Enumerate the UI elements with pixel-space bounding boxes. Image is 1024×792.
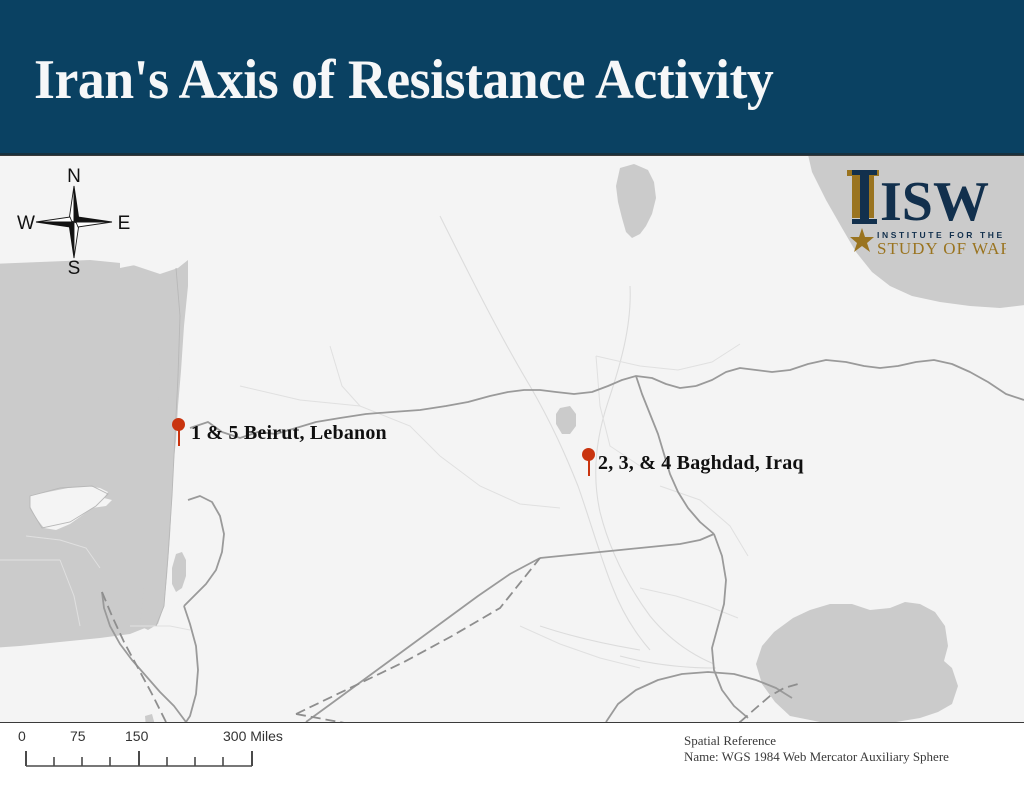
map-page: Iran's Axis of Resistance Activity xyxy=(0,0,1024,792)
spatial-reference: Spatial Reference Name: WGS 1984 Web Mer… xyxy=(684,733,1014,765)
logo-star-icon xyxy=(850,228,874,252)
compass-west-bottom xyxy=(36,222,72,227)
isw-logo: ISW INSTITUTE FOR THE STUDY OF WAR xyxy=(846,164,1006,264)
spatial-reference-title: Spatial Reference xyxy=(684,733,1014,749)
baghdad-marker-label: 2, 3, & 4 Baghdad, Iraq xyxy=(598,452,804,475)
map-pin-icon[interactable] xyxy=(582,448,596,476)
compass-east-bottom xyxy=(76,222,112,227)
logo-navy-i xyxy=(860,170,869,224)
compass-label-n: N xyxy=(67,166,81,187)
scale-label-75: 75 xyxy=(70,728,86,744)
logo-acronym: ISW xyxy=(880,171,989,233)
compass-rose: N S W E xyxy=(14,164,134,276)
beirut-marker-label: 1 & 5 Beirut, Lebanon xyxy=(191,422,387,445)
page-title: Iran's Axis of Resistance Activity xyxy=(34,48,773,112)
scale-ticks xyxy=(18,749,268,769)
compass-east-top xyxy=(76,217,112,222)
compass-west-top xyxy=(36,217,72,222)
scale-label-300: 300 Miles xyxy=(223,728,283,744)
logo-tagline-bottom: STUDY OF WAR xyxy=(877,239,1006,258)
compass-label-e: E xyxy=(118,213,131,234)
compass-label-w: W xyxy=(17,213,35,234)
scale-label-150: 150 xyxy=(125,728,148,744)
spatial-reference-name: Name: WGS 1984 Web Mercator Auxiliary Sp… xyxy=(684,749,1014,765)
scale-label-0: 0 xyxy=(18,728,26,744)
scale-bar: 0 75 150 300 Miles xyxy=(18,728,268,772)
title-bar: Iran's Axis of Resistance Activity xyxy=(0,0,1024,155)
map-canvas[interactable]: N S W E ISW INSTITUTE FOR THE ST xyxy=(0,155,1024,723)
map-pin-icon[interactable] xyxy=(172,418,186,446)
compass-label-s: S xyxy=(68,258,81,276)
